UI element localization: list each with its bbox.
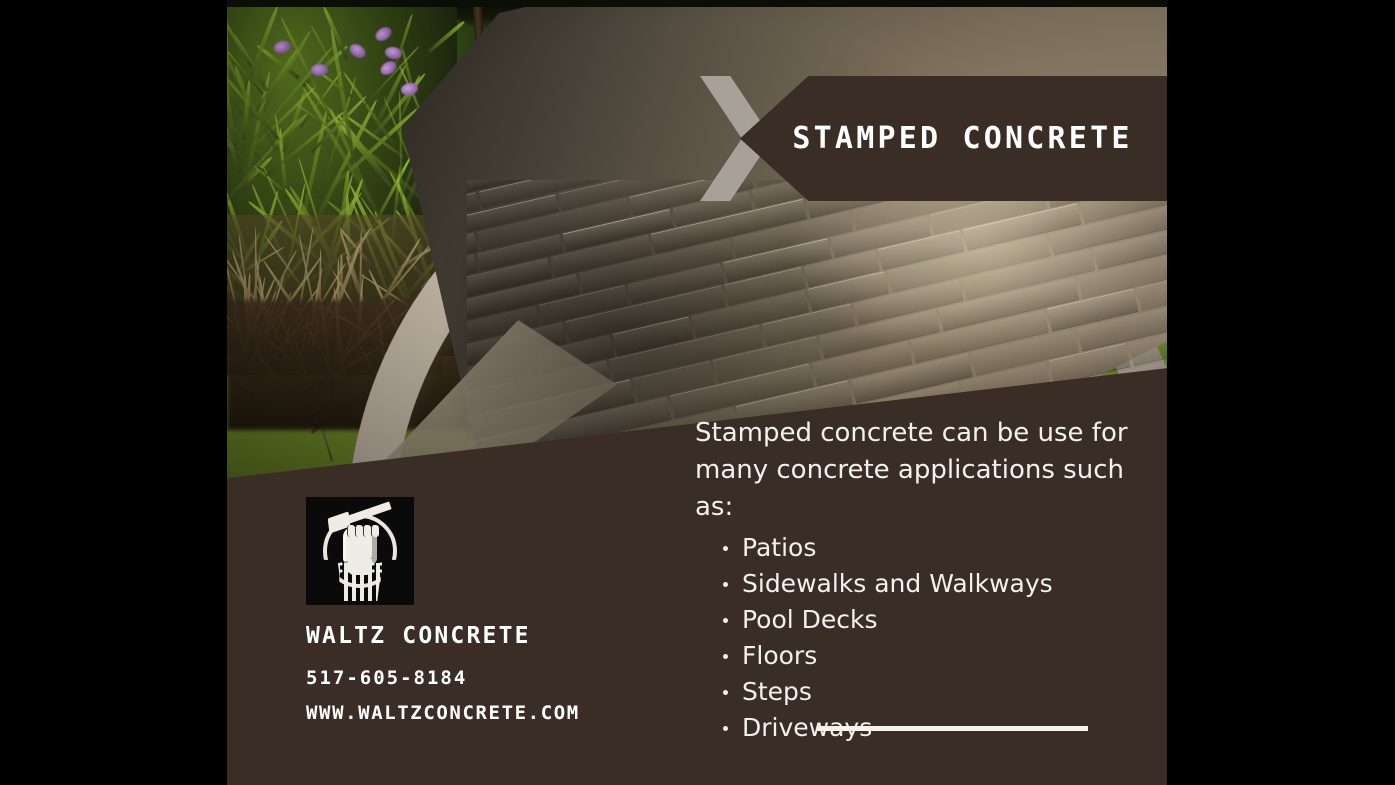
divider-rule [817, 726, 1088, 731]
logo-knuckle [347, 525, 355, 537]
brand-website[interactable]: WWW.WALTZCONCRETE.COM [306, 702, 686, 724]
letterbox-right [1167, 0, 1395, 785]
list-item: Sidewalks and Walkways [723, 566, 1140, 602]
poster-card: STAMPED CONCRETE WALTZ CONCRETE 517-605-… [227, 0, 1167, 785]
list-item: Steps [723, 674, 1140, 710]
hero-photo [227, 0, 1167, 478]
logo-knuckle [371, 525, 379, 537]
applications-list: PatiosSidewalks and WalkwaysPool DecksFl… [695, 530, 1140, 746]
photo-brick [467, 452, 541, 478]
list-item: Floors [723, 638, 1140, 674]
photo-vignette [227, 0, 1167, 478]
copy-block: Stamped concrete can be use for many con… [695, 415, 1140, 746]
list-item: Patios [723, 530, 1140, 566]
poster-stage: STAMPED CONCRETE WALTZ CONCRETE 517-605-… [0, 0, 1395, 785]
brand-name: WALTZ CONCRETE [306, 623, 686, 649]
logo-flag-stars [338, 561, 382, 575]
list-item: Pool Decks [723, 602, 1140, 638]
logo-knuckle [355, 525, 363, 537]
title-banner: STAMPED CONCRETE [700, 76, 1167, 201]
page-title: STAMPED CONCRETE [700, 76, 1167, 201]
photo-top-edge [227, 0, 1167, 7]
photo-brick [1137, 434, 1167, 478]
fist-with-hammer-logo [306, 497, 414, 605]
copy-intro: Stamped concrete can be use for many con… [695, 415, 1140, 526]
photo-brick [621, 441, 704, 478]
brand-block: WALTZ CONCRETE 517-605-8184 WWW.WALTZCON… [306, 497, 686, 724]
brand-phone[interactable]: 517-605-8184 [306, 667, 686, 689]
photo-brick [539, 435, 617, 476]
photo-brick [507, 460, 624, 478]
logo-knuckle [363, 525, 371, 537]
letterbox-left [0, 0, 227, 785]
